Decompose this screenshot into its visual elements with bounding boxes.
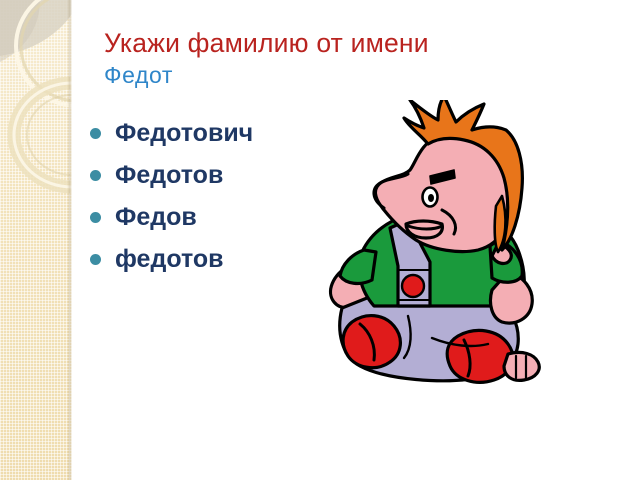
band-edge-shadow (67, 0, 72, 480)
slide: Укажи фамилию от имени Федот Федотович Ф… (0, 0, 640, 480)
list-item[interactable]: Федотов (88, 157, 338, 193)
answer-option-label: Федотович (115, 119, 253, 147)
left-sleeve (340, 250, 376, 283)
list-item[interactable]: Федотович (88, 115, 338, 151)
decorative-rings (0, 0, 72, 260)
answer-options-list: Федотович Федотов Федов федотов (88, 115, 338, 283)
title-prompt-text: Укажи фамилию от имени (104, 26, 574, 60)
decorative-side-band (0, 0, 72, 480)
answer-option-label: федотов (115, 245, 224, 273)
ring-lower-inner (27, 95, 72, 175)
toes (504, 352, 539, 380)
bullet-dot-icon (90, 170, 101, 181)
bullet-dot-icon (90, 212, 101, 223)
bib-button (402, 275, 424, 297)
bullet-dot-icon (90, 128, 101, 139)
cartoon-boy-illustration (312, 100, 564, 392)
answer-option-label: Федов (115, 203, 197, 231)
list-item[interactable]: Федов (88, 199, 338, 235)
answer-option-label: Федотов (115, 161, 223, 189)
title-given-name: Федот (104, 60, 574, 91)
right-shoe (447, 330, 513, 382)
list-item[interactable]: федотов (88, 241, 338, 277)
bullet-dot-icon (90, 254, 101, 265)
pupil (428, 194, 434, 202)
page-title: Укажи фамилию от имени Федот (104, 26, 574, 91)
